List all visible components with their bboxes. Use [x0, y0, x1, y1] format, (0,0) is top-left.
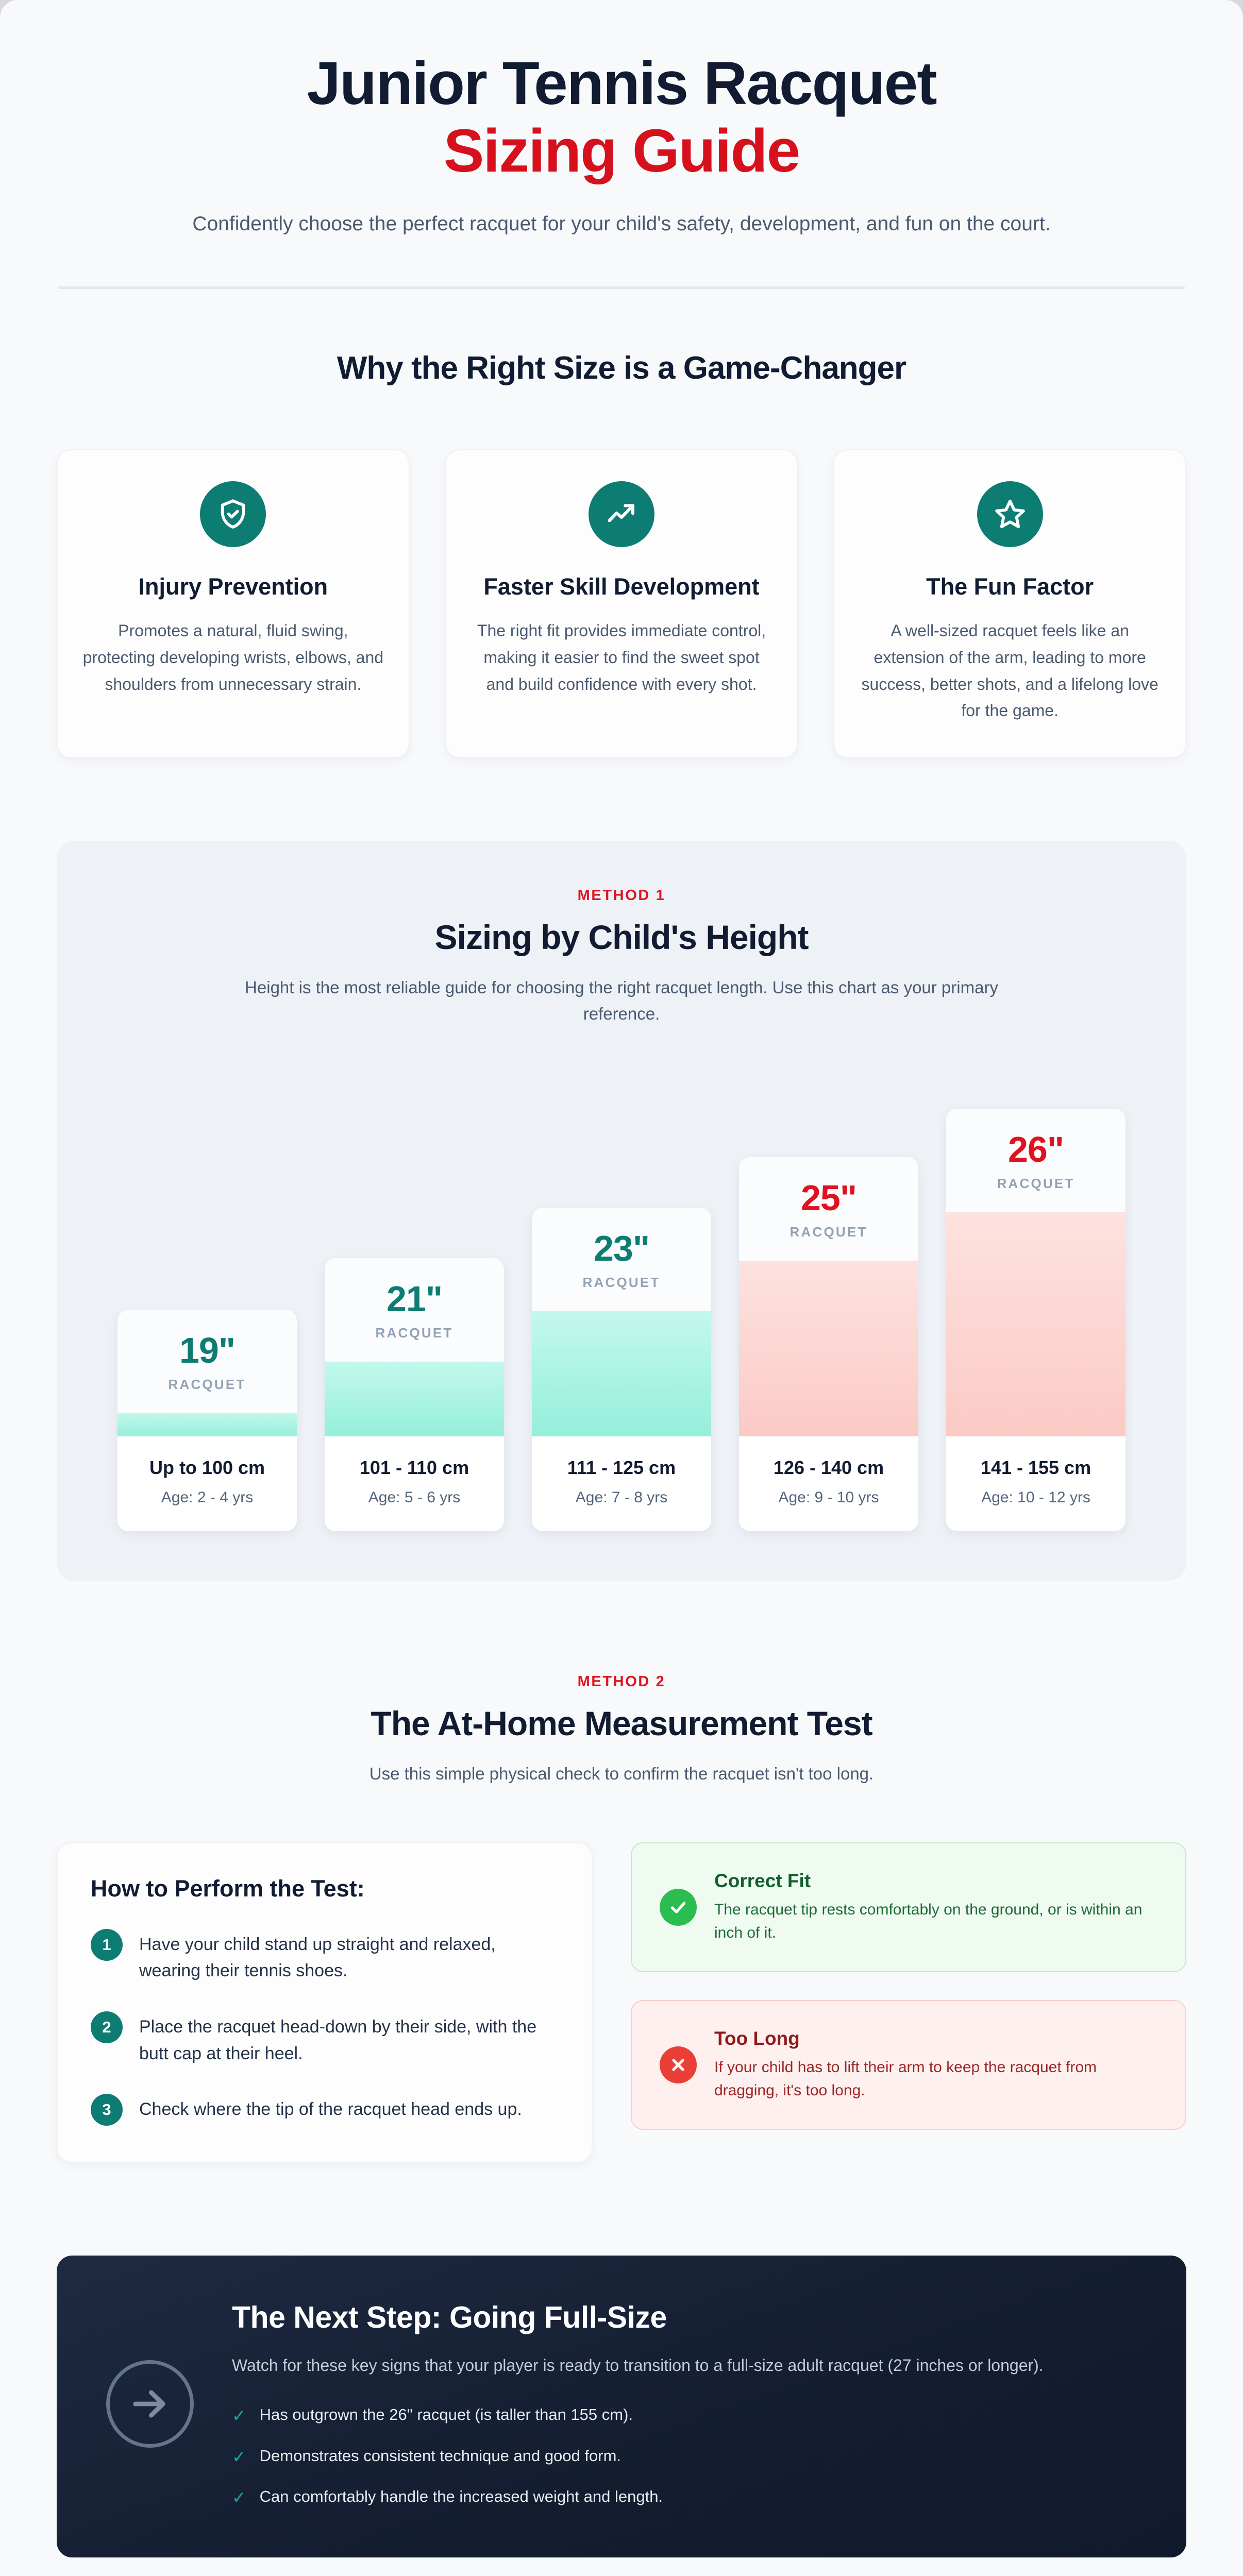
method-2-content: How to Perform the Test: 1Have your chil… [57, 1842, 1186, 2163]
chart-column-cap: 21"RACQUET [325, 1258, 504, 1362]
chart-racquet-size: 19" [123, 1332, 292, 1368]
method-1-title: Sizing by Child's Height [95, 918, 1148, 957]
chart-column-cap: 19"RACQUET [117, 1310, 297, 1413]
chart-racquet-size: 21" [330, 1281, 499, 1317]
chart-height-range: 101 - 110 cm [329, 1457, 500, 1479]
next-step-item-label: Can comfortably handle the increased wei… [260, 2487, 663, 2506]
next-step-item-label: Has outgrown the 26" racquet (is taller … [260, 2405, 633, 2424]
chart-height-range: 126 - 140 cm [743, 1457, 914, 1479]
method-1-panel: METHOD 1 Sizing by Child's Height Height… [57, 841, 1186, 1580]
chart-height-range: 111 - 125 cm [536, 1457, 707, 1479]
benefit-title: Injury Prevention [139, 572, 328, 602]
infographic-page: Junior Tennis Racquet Sizing Guide Confi… [0, 0, 1243, 2576]
step-number-badge: 1 [91, 1929, 123, 1961]
trending-up-icon [589, 481, 654, 547]
chart-racquet-size: 26" [951, 1131, 1120, 1167]
benefit-card-fun-factor: The Fun Factor A well-sized racquet feel… [833, 449, 1186, 758]
step-text: Check where the tip of the racquet head … [139, 2094, 522, 2123]
next-step-panel: The Next Step: Going Full-Size Watch for… [57, 2256, 1186, 2557]
chart-column: 23"RACQUET111 - 125 cmAge: 7 - 8 yrs [532, 1208, 711, 1531]
step-text: Place the racquet head-down by their sid… [139, 2011, 559, 2067]
result-card-correct-fit: Correct Fit The racquet tip rests comfor… [631, 1842, 1186, 1972]
step-number-badge: 3 [91, 2094, 123, 2126]
chart-age-range: Age: 5 - 6 yrs [329, 1489, 500, 1506]
chart-racquet-word: RACQUET [951, 1176, 1120, 1192]
chart-column-footer: Up to 100 cmAge: 2 - 4 yrs [117, 1436, 297, 1531]
method-2-eyebrow: METHOD 2 [57, 1673, 1186, 1690]
method-1-subtitle: Height is the most reliable guide for ch… [220, 974, 1023, 1027]
next-step-description: Watch for these key signs that your play… [232, 2352, 1087, 2379]
chart-column: 26"RACQUET141 - 155 cmAge: 10 - 12 yrs [946, 1109, 1126, 1531]
page-subtitle: Confidently choose the perfect racquet f… [150, 209, 1093, 240]
chart-racquet-word: RACQUET [537, 1275, 706, 1291]
method-1-eyebrow: METHOD 1 [95, 887, 1148, 904]
benefits-heading: Why the Right Size is a Game-Changer [0, 350, 1243, 386]
benefits-section: Why the Right Size is a Game-Changer Inj… [0, 350, 1243, 758]
chart-column-cap: 23"RACQUET [532, 1208, 711, 1311]
steps-title: How to Perform the Test: [91, 1875, 559, 1902]
benefit-card-injury-prevention: Injury Prevention Promotes a natural, fl… [57, 449, 410, 758]
benefit-description: Promotes a natural, fluid swing, protect… [81, 618, 385, 698]
benefit-card-skill-development: Faster Skill Development The right fit p… [445, 449, 798, 758]
chart-column-footer: 126 - 140 cmAge: 9 - 10 yrs [739, 1436, 918, 1531]
benefit-title: The Fun Factor [926, 572, 1094, 602]
method-2-title: The At-Home Measurement Test [57, 1704, 1186, 1743]
chart-height-range: Up to 100 cm [122, 1457, 293, 1479]
arrow-right-circle-icon [106, 2360, 194, 2448]
chart-bar-fill [739, 1261, 918, 1436]
step-number-badge: 2 [91, 2011, 123, 2043]
test-step: 2Place the racquet head-down by their si… [91, 2011, 559, 2067]
chart-column: 21"RACQUET101 - 110 cmAge: 5 - 6 yrs [325, 1258, 504, 1531]
sizing-by-height-chart: 19"RACQUETUp to 100 cmAge: 2 - 4 yrs21"R… [95, 1078, 1148, 1531]
chart-column-cap: 25"RACQUET [739, 1157, 918, 1261]
test-step: 3Check where the tip of the racquet head… [91, 2094, 559, 2126]
page-header: Junior Tennis Racquet Sizing Guide Confi… [0, 0, 1243, 239]
shield-check-icon [200, 481, 266, 547]
benefit-description: A well-sized racquet feels like an exten… [858, 618, 1162, 724]
benefits-card-row: Injury Prevention Promotes a natural, fl… [0, 449, 1243, 758]
benefit-description: The right fit provides immediate control… [470, 618, 774, 698]
page-title-primary: Junior Tennis Racquet [93, 52, 1150, 116]
result-card-too-long: Too Long If your child has to lift their… [631, 2000, 1186, 2130]
next-step-item: ✓Can comfortably handle the increased we… [232, 2487, 1137, 2508]
chart-racquet-word: RACQUET [123, 1377, 292, 1393]
chart-column: 25"RACQUET126 - 140 cmAge: 9 - 10 yrs [739, 1157, 918, 1531]
x-circle-icon [660, 2046, 697, 2083]
chart-column-footer: 111 - 125 cmAge: 7 - 8 yrs [532, 1436, 711, 1531]
result-description: If your child has to lift their arm to k… [714, 2056, 1157, 2102]
step-text: Have your child stand up straight and re… [139, 1929, 559, 1985]
chart-bar-fill [946, 1212, 1126, 1436]
method-2-subtitle: Use this simple physical check to confir… [220, 1760, 1023, 1787]
chart-bar-fill [532, 1311, 711, 1436]
next-step-checklist: ✓Has outgrown the 26" racquet (is taller… [232, 2405, 1137, 2508]
chart-racquet-size: 23" [537, 1230, 706, 1266]
next-step-item-label: Demonstrates consistent technique and go… [260, 2447, 621, 2465]
next-step-body: The Next Step: Going Full-Size Watch for… [232, 2300, 1137, 2507]
star-icon [977, 481, 1043, 547]
chart-height-range: 141 - 155 cm [950, 1457, 1121, 1479]
check-circle-icon [660, 1889, 697, 1926]
chart-column-footer: 101 - 110 cmAge: 5 - 6 yrs [325, 1436, 504, 1531]
chart-column-footer: 141 - 155 cmAge: 10 - 12 yrs [946, 1436, 1126, 1531]
steps-list: 1Have your child stand up straight and r… [91, 1929, 559, 2126]
header-divider [58, 286, 1185, 289]
next-step-item: ✓Has outgrown the 26" racquet (is taller… [232, 2405, 1137, 2426]
chart-racquet-word: RACQUET [330, 1325, 499, 1341]
check-icon: ✓ [232, 2487, 246, 2508]
page-title-accent: Sizing Guide [93, 116, 1150, 187]
result-title: Correct Fit [714, 1870, 1157, 1892]
chart-age-range: Age: 7 - 8 yrs [536, 1489, 707, 1506]
test-results-column: Correct Fit The racquet tip rests comfor… [631, 1842, 1186, 2130]
benefit-title: Faster Skill Development [483, 572, 759, 602]
chart-bar-fill [325, 1362, 504, 1436]
next-step-title: The Next Step: Going Full-Size [232, 2300, 1137, 2335]
check-icon: ✓ [232, 2405, 246, 2426]
chart-age-range: Age: 10 - 12 yrs [950, 1489, 1121, 1506]
result-description: The racquet tip rests comfortably on the… [714, 1898, 1157, 1944]
check-icon: ✓ [232, 2447, 246, 2467]
method-2-header: METHOD 2 The At-Home Measurement Test Us… [0, 1673, 1243, 1787]
chart-bar-fill [117, 1413, 297, 1436]
how-to-perform-test-card: How to Perform the Test: 1Have your chil… [57, 1842, 593, 2163]
test-step: 1Have your child stand up straight and r… [91, 1929, 559, 1985]
chart-age-range: Age: 2 - 4 yrs [122, 1489, 293, 1506]
next-step-item: ✓Demonstrates consistent technique and g… [232, 2447, 1137, 2467]
chart-column: 19"RACQUETUp to 100 cmAge: 2 - 4 yrs [117, 1310, 297, 1531]
result-title: Too Long [714, 2028, 1157, 2049]
chart-racquet-size: 25" [744, 1180, 913, 1216]
chart-column-cap: 26"RACQUET [946, 1109, 1126, 1212]
chart-racquet-word: RACQUET [744, 1224, 913, 1240]
chart-age-range: Age: 9 - 10 yrs [743, 1489, 914, 1506]
